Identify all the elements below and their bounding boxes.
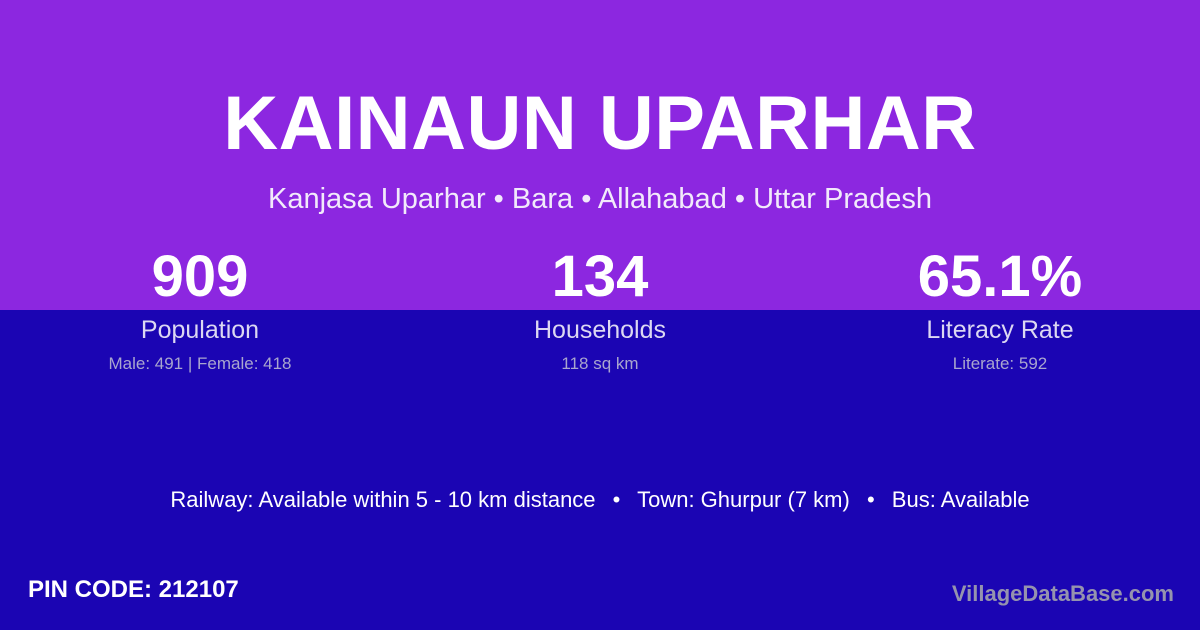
amenities-line: Railway: Available within 5 - 10 km dist…: [0, 486, 1200, 514]
stat-value-households: 134: [400, 246, 800, 308]
stat-population: 909 Population Male: 491 | Female: 418: [0, 246, 400, 386]
stat-households: 134 Households 118 sq km: [400, 246, 800, 386]
stat-sub-population: Male: 491 | Female: 418: [0, 354, 400, 374]
stat-sub-households: 118 sq km: [400, 354, 800, 374]
stat-label-literacy-rate: Literacy Rate: [800, 316, 1200, 345]
amenity-separator-icon: •: [856, 486, 886, 514]
site-brand-watermark: VillageDataBase.com: [952, 581, 1174, 607]
stat-label-population: Population: [0, 316, 400, 345]
amenity-town: Town: Ghurpur (7 km): [637, 487, 850, 512]
location-breadcrumb: Kanjasa Uparhar • Bara • Allahabad • Utt…: [0, 181, 1200, 217]
amenity-separator-icon: •: [602, 486, 632, 514]
stat-value-literacy-rate: 65.1%: [800, 246, 1200, 308]
pin-code-label: PIN CODE: 212107: [28, 576, 239, 604]
amenity-bus: Bus: Available: [892, 487, 1030, 512]
amenity-railway: Railway: Available within 5 - 10 km dist…: [170, 487, 595, 512]
stat-label-households: Households: [400, 316, 800, 345]
stat-literacy-rate: 65.1% Literacy Rate Literate: 592: [800, 246, 1200, 386]
village-info-card: KAINAUN UPARHAR Kanjasa Uparhar • Bara •…: [0, 0, 1200, 630]
stat-sub-literacy-rate: Literate: 592: [800, 354, 1200, 374]
stats-row: 909 Population Male: 491 | Female: 418 1…: [0, 246, 1200, 386]
page-title: KAINAUN UPARHAR: [0, 82, 1200, 166]
stat-value-population: 909: [0, 246, 400, 308]
